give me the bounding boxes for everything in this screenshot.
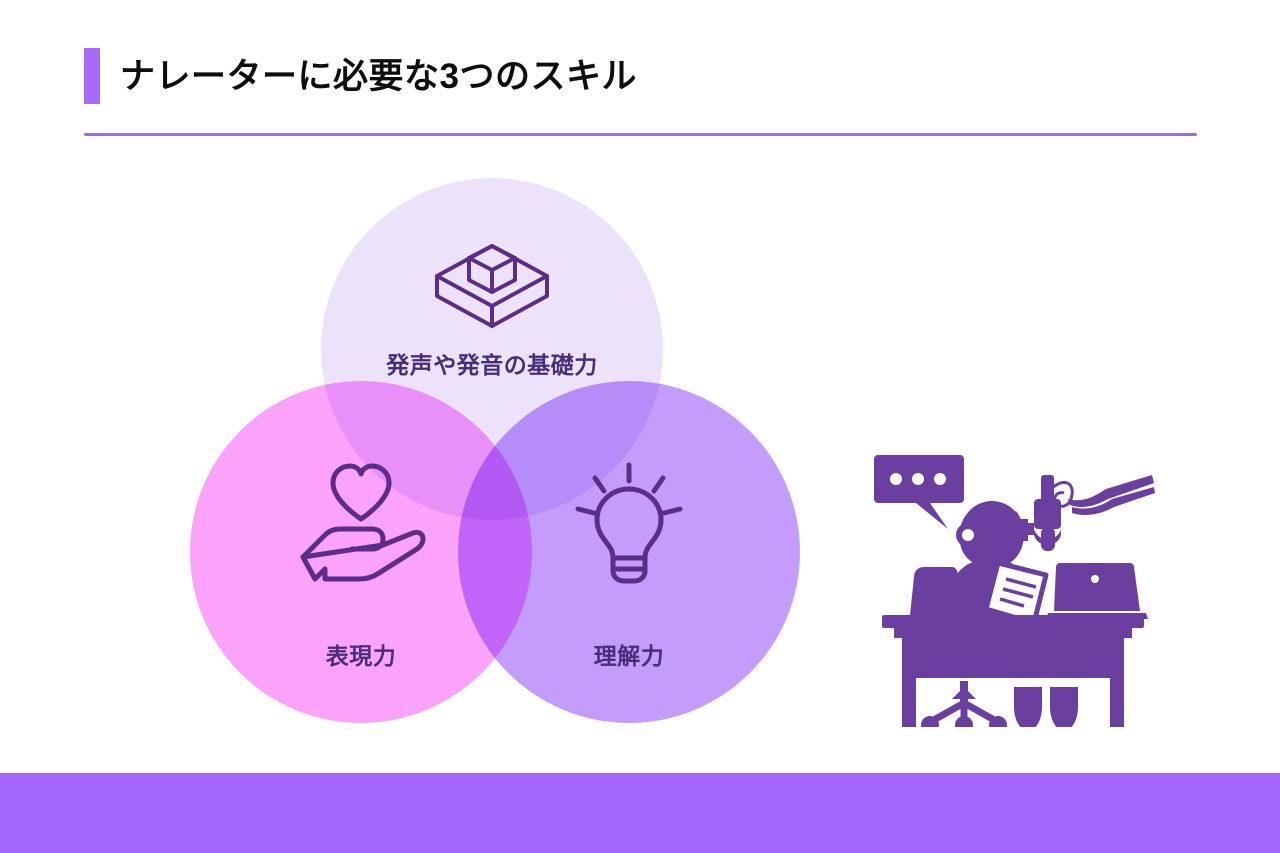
script-paper xyxy=(986,563,1046,623)
office-chair xyxy=(921,681,1078,727)
venn-circle-comprehension[interactable] xyxy=(458,381,800,723)
title-accent-bar xyxy=(84,48,100,104)
chair-back xyxy=(910,567,958,615)
page-title: ナレーターに必要な3つのスキル xyxy=(120,52,637,102)
laptop xyxy=(1046,563,1148,619)
speech-bubble-icon xyxy=(874,455,964,529)
footer-band xyxy=(0,773,1280,853)
narrator-at-desk-illustration xyxy=(868,437,1158,727)
slide-header: ナレーターに必要な3つのスキル xyxy=(0,0,1280,140)
title-divider xyxy=(84,133,1197,136)
desk xyxy=(882,615,1144,727)
venn-diagram: 発声や発音の基礎力 表現力 xyxy=(190,178,800,723)
microphone-boom-arm xyxy=(1017,475,1155,551)
